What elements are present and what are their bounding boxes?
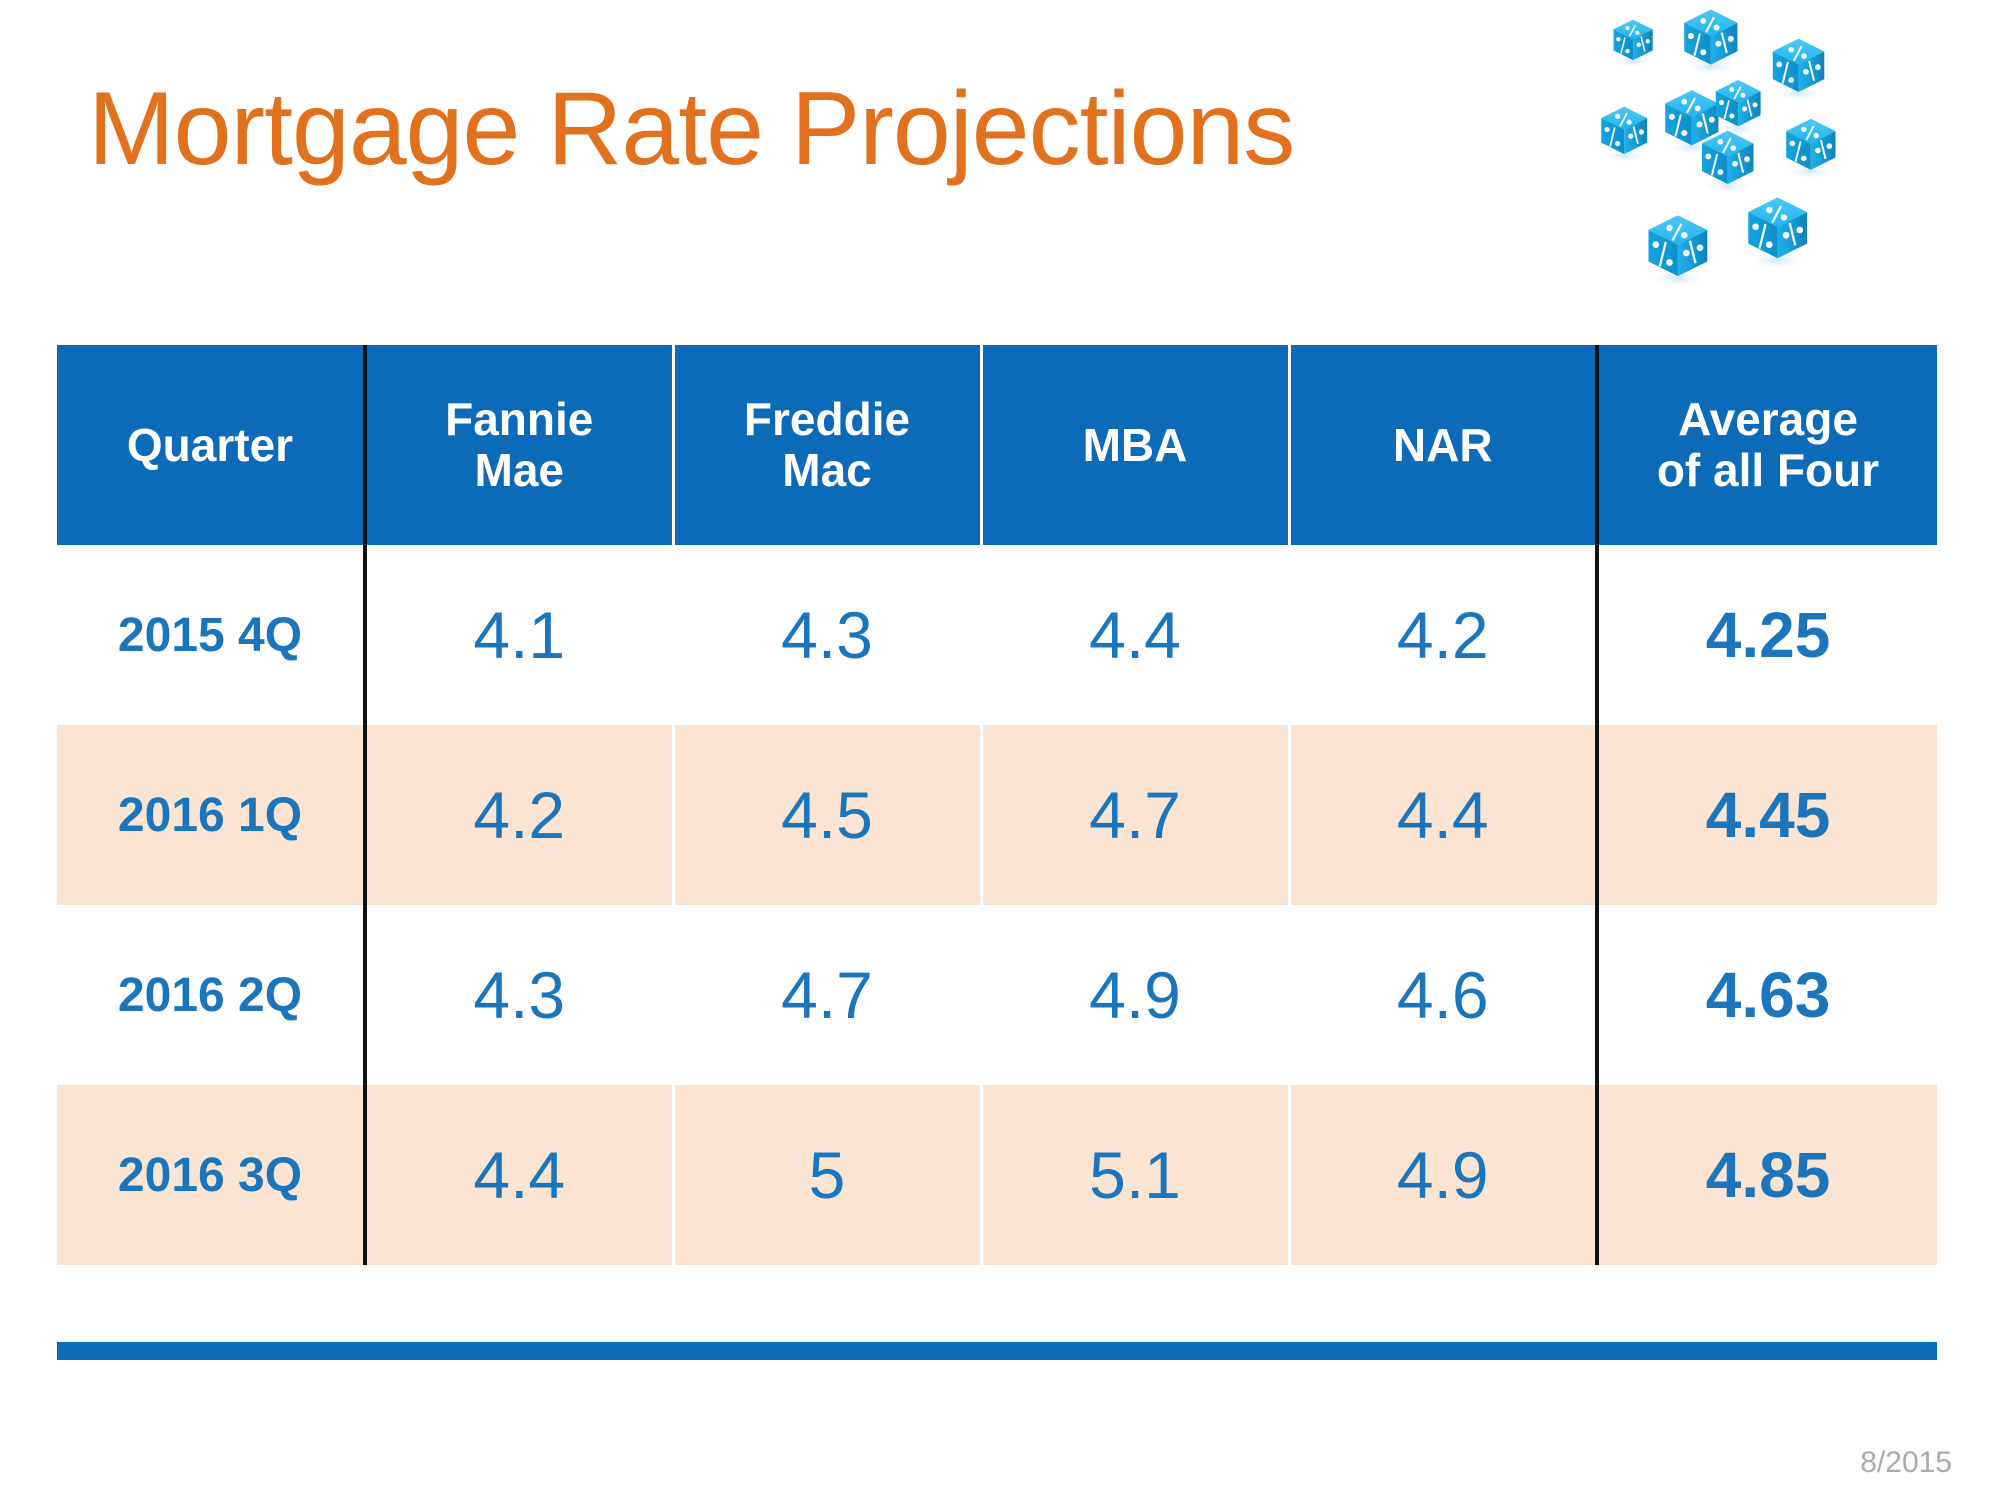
cell-nar: 4.9 [1289,1085,1597,1265]
cell-quarter: 2016 3Q [57,1085,365,1265]
table-row: 2016 3Q 4.4 5 5.1 4.9 4.85 [57,1085,1937,1265]
cell-average: 4.63 [1597,905,1937,1085]
column-header-quarter: Quarter [57,345,365,545]
cell-nar: 4.2 [1289,545,1597,725]
cell-fannie-mae: 4.4 [365,1085,673,1265]
column-header-nar: NAR [1289,345,1597,545]
mortgage-rate-table: Quarter Fannie Mae Freddie Mac MBA NAR A… [57,345,1937,1265]
cell-freddie-mac: 5 [673,1085,981,1265]
cell-nar: 4.4 [1289,725,1597,905]
table-row: 2016 2Q 4.3 4.7 4.9 4.6 4.63 [57,905,1937,1085]
header-line: Fannie [445,393,593,445]
cell-mba: 4.4 [981,545,1289,725]
cell-average: 4.45 [1597,725,1937,905]
cell-nar: 4.6 [1289,905,1597,1085]
header-line: Mae [475,444,564,496]
header-line: Freddie [744,393,910,445]
cell-freddie-mac: 4.5 [673,725,981,905]
cell-average: 4.25 [1597,545,1937,725]
column-header-average: Average of all Four [1597,345,1937,545]
table-row: 2016 1Q 4.2 4.5 4.7 4.4 4.45 [57,725,1937,905]
header-line: MBA [1083,419,1188,471]
cell-freddie-mac: 4.3 [673,545,981,725]
column-header-mba: MBA [981,345,1289,545]
header-line: Mac [782,444,871,496]
page-title: Mortgage Rate Projections [88,74,1294,184]
table-row: 2015 4Q 4.1 4.3 4.4 4.2 4.25 [57,545,1937,725]
cell-fannie-mae: 4.1 [365,545,673,725]
column-header-fannie-mae: Fannie Mae [365,345,673,545]
cell-quarter: 2016 2Q [57,905,365,1085]
cell-quarter: 2016 1Q [57,725,365,905]
cell-fannie-mae: 4.3 [365,905,673,1085]
percent-dice-image [1575,0,1915,330]
header-line: NAR [1393,419,1493,471]
cell-quarter: 2015 4Q [57,545,365,725]
cell-fannie-mae: 4.2 [365,725,673,905]
header-line: Quarter [127,419,293,471]
cell-average: 4.85 [1597,1085,1937,1265]
header-line: Average [1678,393,1858,445]
table-header-row: Quarter Fannie Mae Freddie Mac MBA NAR A… [57,345,1937,545]
header-line: of all Four [1657,444,1879,496]
cell-mba: 5.1 [981,1085,1289,1265]
cell-mba: 4.9 [981,905,1289,1085]
cell-mba: 4.7 [981,725,1289,905]
cell-freddie-mac: 4.7 [673,905,981,1085]
footer-date: 8/2015 [1860,1446,1952,1480]
bottom-accent-bar [57,1342,1937,1360]
column-header-freddie-mac: Freddie Mac [673,345,981,545]
